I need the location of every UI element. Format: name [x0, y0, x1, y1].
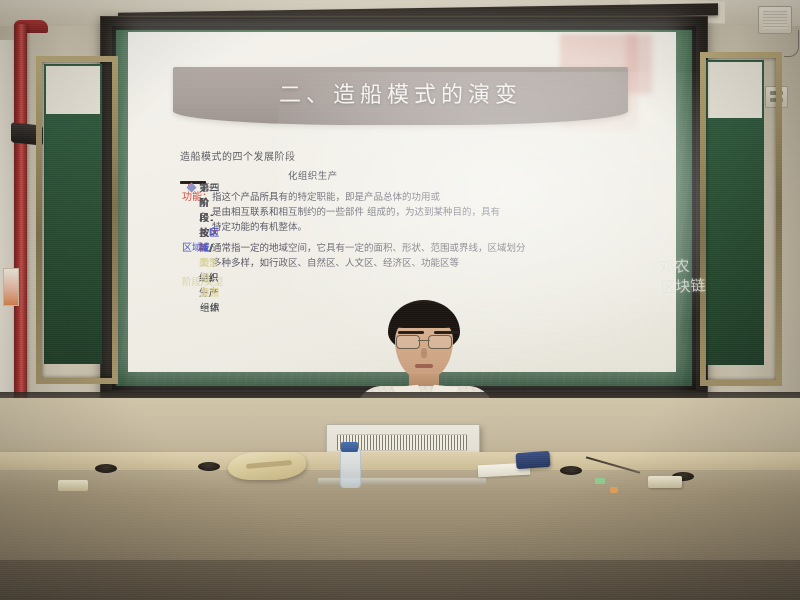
pipe-sticker	[3, 268, 19, 306]
hair-top	[390, 302, 458, 328]
definition-region-line1: 通常指一定的地域空间，它具有一定的面积、形状、范围或界线，区域划分	[212, 243, 526, 254]
blackboard-eraser-left	[58, 480, 88, 491]
phone	[515, 451, 550, 469]
desk-lower-rail	[0, 560, 800, 600]
wing-left-frame	[36, 56, 118, 384]
lens-left	[396, 335, 420, 349]
definition-region: 区域：通常指一定的地域空间，它具有一定的面积、形状、范围或界线，区域划分 多种多…	[180, 241, 600, 271]
fire-pipe	[14, 24, 27, 400]
eyebrow-right	[434, 331, 460, 334]
chalk-writing: 邓农 区块链	[659, 254, 723, 297]
eyebrow-left	[398, 331, 424, 334]
bottle-cap	[341, 442, 358, 452]
glasses-icon	[396, 335, 452, 347]
speaker-cable	[784, 30, 799, 57]
slide-title: 二、造船模式的演变	[173, 77, 628, 109]
definition-function-line2: 是由相互联系和相互制约的一些部件 组成的，为达到某种目的，具有	[182, 205, 600, 220]
stage-4-text: 第四阶段：按区域/类型/要素一体	[200, 181, 220, 316]
slide-heading: 造船模式的四个发展阶段	[180, 150, 600, 165]
stage-4-continuation-text: 化组织生产	[180, 169, 600, 184]
wing-right-frame	[700, 52, 782, 386]
cable-hole-right	[560, 466, 582, 475]
mouth	[415, 364, 433, 368]
water-bottle	[340, 448, 361, 488]
cable-hole-left-2	[198, 462, 220, 471]
definition-function-line1: 指这个产品所具有的特定职能，即是产品总体的功用或	[212, 192, 440, 203]
slide-body: 造船模式的四个发展阶段 第一阶段：按功能/工艺组织生产 第二阶段：按区域/类型组…	[180, 150, 600, 290]
slide-tail-label: 阶段/类型	[180, 275, 600, 290]
classroom-scene: 二、造船模式的演变 造船模式的四个发展阶段 第一阶段：按功能/工艺组织生产 第二…	[0, 0, 800, 600]
definition-function-line3: 特定功能的有机整体。	[182, 220, 600, 235]
lens-right	[428, 335, 452, 349]
nose	[421, 348, 427, 358]
cable-hole-left	[95, 464, 117, 473]
definition-function: 功能：指这个产品所具有的特定职能，即是产品总体的功用或 是由相互联系和相互制约的…	[180, 190, 600, 235]
blackboard-eraser	[648, 476, 682, 488]
chalk-writing-line-2: 区块链	[660, 274, 723, 297]
chalk-orange	[610, 487, 618, 493]
definition-region-line2: 多种多样，如行政区、自然区、人文区、经济区、功能区等	[182, 256, 600, 271]
projector-hotspot-2	[626, 34, 652, 94]
stage-row-4: 第四阶段：按区域/类型/要素一体	[180, 181, 206, 184]
chalk-green	[595, 478, 605, 484]
